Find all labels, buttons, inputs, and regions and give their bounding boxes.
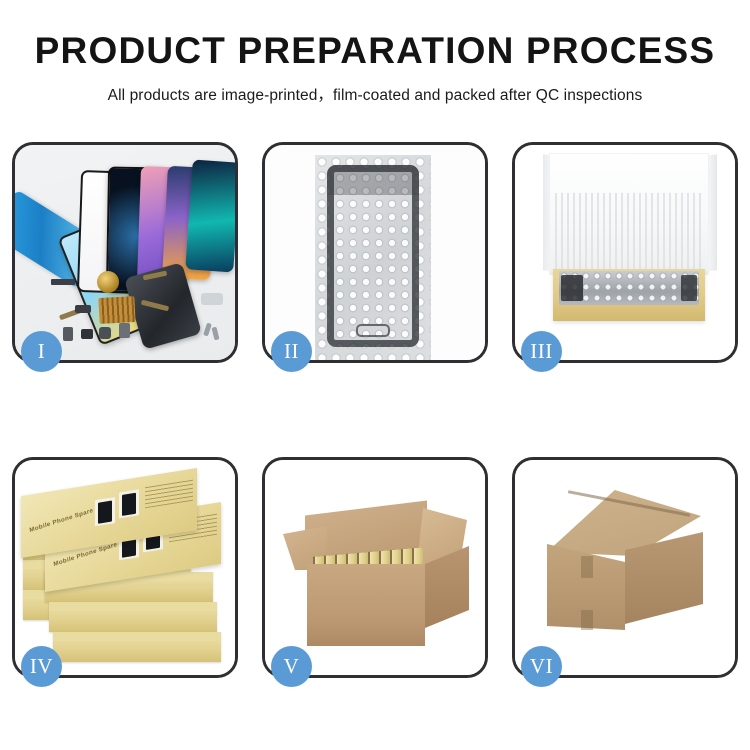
process-step-3: III [512,142,738,363]
process-grid: I II III [12,142,738,678]
glass-top-bezel [327,165,419,195]
screw-a [203,323,212,337]
step-6-image [515,460,735,675]
label-textlines-upper [145,479,193,509]
tool-tweezers [201,293,223,305]
step-badge-3: III [521,331,562,372]
product-preparation-infographic: PRODUCT PREPARATION PROCESS All products… [0,0,750,750]
carton-front-panel [307,564,425,646]
process-step-5: V [262,457,488,678]
small-part-a [63,327,73,341]
small-part-b [81,329,93,339]
step-5-image [265,460,485,675]
phone-teal [185,159,235,272]
wrapped-phone-part [559,271,699,305]
step-badge-5: V [271,646,312,687]
small-part-d [119,323,130,338]
step-1-image [15,145,235,360]
white-foam-lid [549,153,709,275]
step-badge-2: II [271,331,312,372]
carton-tab-upper [581,556,593,578]
small-part-strip [51,279,75,285]
step-2-image [265,145,485,360]
page-subtitle: All products are image-printed，film-coat… [0,83,750,105]
small-part-e [75,305,91,313]
process-step-1: I [12,142,238,363]
page-title: PRODUCT PREPARATION PROCESS [0,32,750,69]
step-3-image [515,145,735,360]
connector-grid-part [98,296,135,324]
label-screen-c [98,501,112,524]
carton-tab-lower [581,610,593,630]
stacked-box-5 [49,602,217,632]
process-step-6: VI [512,457,738,678]
process-step-4: Mobile Phone Spare Parts Mobile Phone Sp… [12,457,238,678]
screw-b [212,327,220,341]
step-badge-4: IV [21,646,62,687]
label-screen-d [122,493,136,516]
stacked-box-6 [53,632,221,662]
step-badge-6: VI [521,646,562,687]
small-part-c [99,327,111,339]
process-step-2: II [262,142,488,363]
step-badge-1: I [21,331,62,372]
step-4-image: Mobile Phone Spare Parts Mobile Phone Sp… [15,460,235,675]
copper-coil-part [97,271,119,293]
header: PRODUCT PREPARATION PROCESS All products… [0,0,750,105]
